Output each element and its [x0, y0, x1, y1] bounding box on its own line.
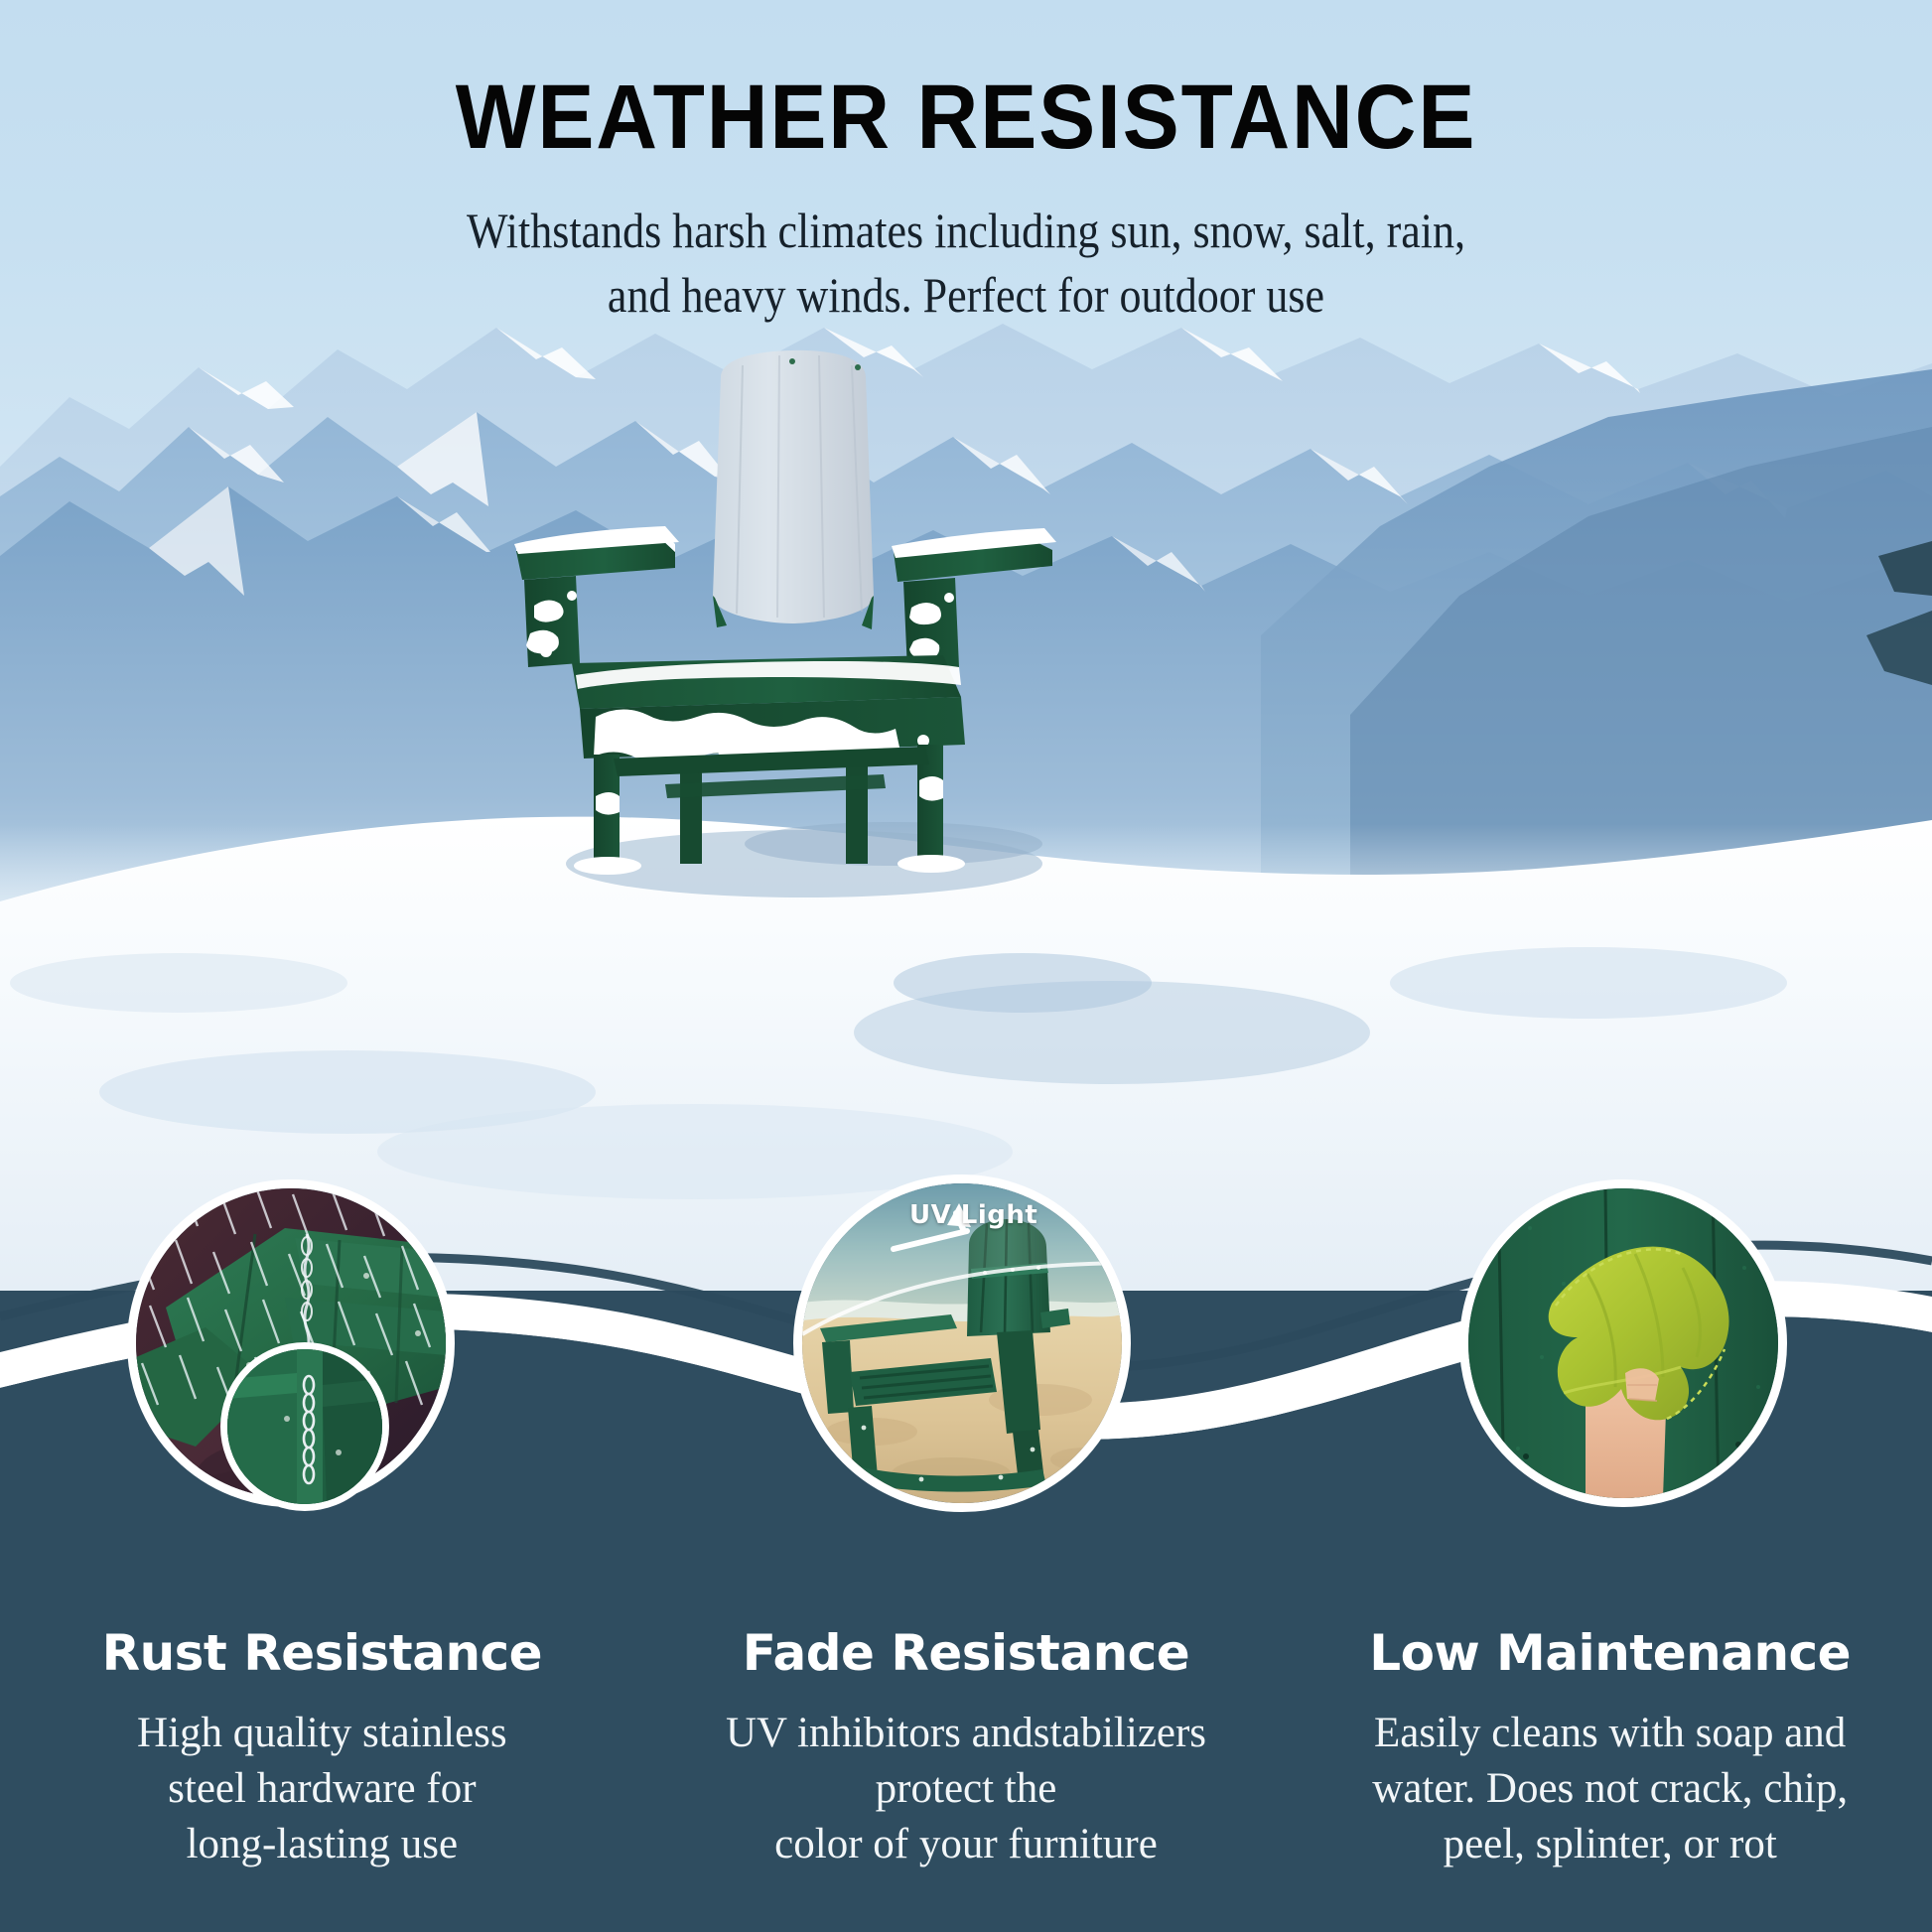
feature-body-line-2: protect the: [876, 1765, 1057, 1812]
feature-body-rust-resistance: High quality stainless steel hardware fo…: [34, 1706, 611, 1872]
page-title: WEATHER RESISTANCE: [68, 71, 1864, 163]
feature-body-line-2: water. Does not crack, chip,: [1372, 1765, 1848, 1812]
feature-image-low-maintenance: [1459, 1179, 1787, 1507]
subtitle-line-2: and heavy winds. Perfect for outdoor use: [608, 267, 1324, 323]
feature-body-line-3: long-lasting use: [187, 1821, 459, 1867]
feature-rust-resistance: Rust Resistance High quality stainless s…: [0, 1624, 644, 1872]
feature-body-line-1: High quality stainless: [137, 1710, 507, 1756]
feature-image-rust-resistance-inset: [220, 1342, 389, 1511]
feature-body-line-3: color of your furniture: [774, 1821, 1158, 1867]
uv-light-label: UV Light: [909, 1200, 1037, 1230]
feature-body-line-2: steel hardware for: [168, 1765, 476, 1812]
headline-block: WEATHER RESISTANCE Withstands harsh clim…: [0, 71, 1932, 328]
feature-title-fade-resistance: Fade Resistance: [678, 1624, 1255, 1682]
feature-low-maintenance: Low Maintenance Easily cleans with soap …: [1288, 1624, 1932, 1872]
feature-body-fade-resistance: UV inhibitors andstabilizers protect the…: [678, 1706, 1255, 1872]
poster-root: WEATHER RESISTANCE Withstands harsh clim…: [0, 0, 1932, 1932]
feature-body-line-3: peel, splinter, or rot: [1444, 1821, 1777, 1867]
hero-chair-image: [477, 347, 1092, 923]
feature-body-low-maintenance: Easily cleans with soap and water. Does …: [1321, 1706, 1898, 1872]
page-subtitle: Withstands harsh climates including sun,…: [116, 199, 1816, 328]
subtitle-line-1: Withstands harsh climates including sun,…: [467, 203, 1465, 258]
feature-title-rust-resistance: Rust Resistance: [34, 1624, 611, 1682]
feature-body-line-1: UV inhibitors andstabilizers: [726, 1710, 1206, 1756]
feature-title-low-maintenance: Low Maintenance: [1321, 1624, 1898, 1682]
feature-body-line-1: Easily cleans with soap and: [1374, 1710, 1846, 1756]
feature-list: Rust Resistance High quality stainless s…: [0, 1624, 1932, 1872]
feature-fade-resistance: Fade Resistance UV inhibitors andstabili…: [644, 1624, 1289, 1872]
